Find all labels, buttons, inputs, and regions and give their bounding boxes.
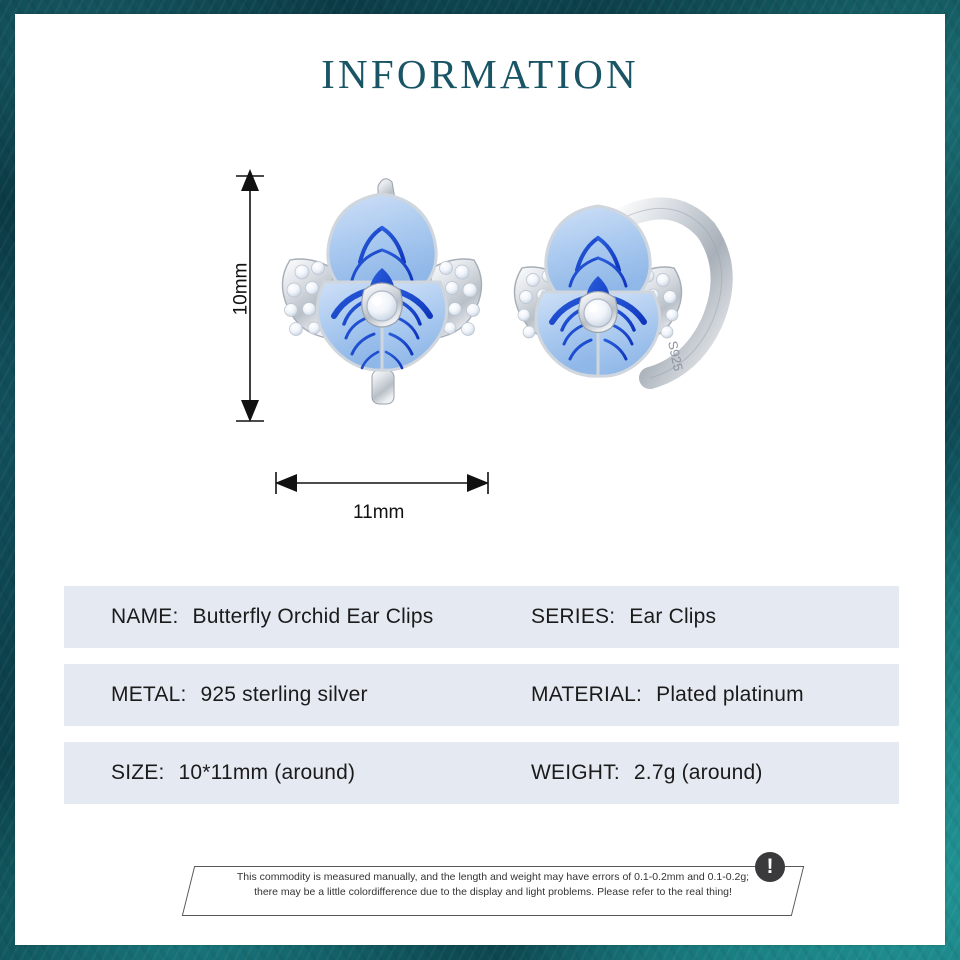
product-image-ear-clips: S925 — [260, 164, 750, 444]
spec-key: NAME: — [111, 605, 179, 629]
page-title: INFORMATION — [15, 50, 945, 98]
spec-key: MATERIAL: — [531, 683, 642, 707]
specification-table: NAME: Butterfly Orchid Ear Clips SERIES:… — [64, 586, 899, 820]
spec-value: Ear Clips — [629, 605, 716, 629]
page-background: INFORMATION 10mm 11mm — [0, 0, 960, 960]
spec-value: Butterfly Orchid Ear Clips — [193, 605, 434, 629]
product-illustration-area: 10mm 11mm — [15, 154, 945, 554]
spec-cell-name: NAME: Butterfly Orchid Ear Clips — [111, 605, 531, 629]
exclamation-glyph: ! — [767, 856, 774, 877]
horizontal-dimension-label: 11mm — [353, 502, 404, 524]
spec-cell-size: SIZE: 10*11mm (around) — [111, 761, 531, 785]
disclaimer-line-2: there may be a little colordifference du… — [208, 885, 778, 900]
spec-cell-metal: METAL: 925 sterling silver — [111, 683, 531, 707]
right-earring: S925 — [514, 206, 721, 378]
table-row: METAL: 925 sterling silver MATERIAL: Pla… — [64, 664, 899, 726]
table-row: NAME: Butterfly Orchid Ear Clips SERIES:… — [64, 586, 899, 648]
information-card: INFORMATION 10mm 11mm — [15, 14, 945, 945]
spec-key: METAL: — [111, 683, 187, 707]
spec-key: WEIGHT: — [531, 761, 620, 785]
disclaimer-banner: This commodity is measured manually, and… — [170, 852, 830, 920]
spec-key: SERIES: — [531, 605, 615, 629]
spec-cell-weight: WEIGHT: 2.7g (around) — [531, 761, 763, 785]
spec-cell-material: MATERIAL: Plated platinum — [531, 683, 804, 707]
exclamation-icon: ! — [755, 852, 785, 882]
disclaimer-line-1: This commodity is measured manually, and… — [208, 870, 778, 885]
spec-value: 2.7g (around) — [634, 761, 763, 785]
left-earring — [282, 179, 481, 404]
spec-value: Plated platinum — [656, 683, 804, 707]
spec-value: 925 sterling silver — [201, 683, 368, 707]
spec-cell-series: SERIES: Ear Clips — [531, 605, 716, 629]
disclaimer-text: This commodity is measured manually, and… — [208, 870, 778, 900]
spec-value: 10*11mm (around) — [179, 761, 356, 785]
vertical-dimension-label: 10mm — [230, 263, 252, 316]
horizontal-dimension-arrow — [273, 469, 493, 497]
table-row: SIZE: 10*11mm (around) WEIGHT: 2.7g (aro… — [64, 742, 899, 804]
spec-key: SIZE: — [111, 761, 165, 785]
